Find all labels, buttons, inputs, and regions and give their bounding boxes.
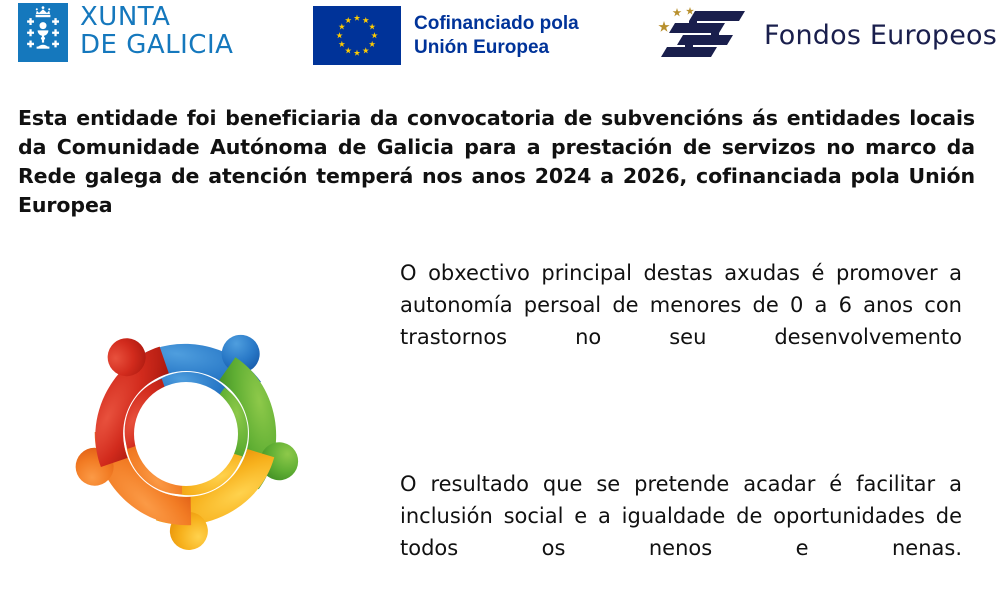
european-union-flag-icon	[313, 6, 401, 65]
fondos-europeos-logo: Fondos Europeos	[655, 4, 997, 66]
eu-cofunded-text: Cofinanciado pola Unión Europea	[414, 12, 579, 60]
galicia-coat-of-arms-icon	[18, 3, 68, 62]
xunta-wordmark-line1: XUNTA	[80, 4, 233, 31]
xunta-wordmark: XUNTA DE GALICIA	[80, 4, 233, 60]
eu-cofunded-logo: Cofinanciado pola Unión Europea	[313, 6, 579, 65]
fondos-europeos-label: Fondos Europeos	[764, 20, 997, 51]
logo-bar: XUNTA DE GALICIA Cofinanciado pola Unión…	[0, 0, 1000, 78]
content-area: O obxectivo principal destas axudas é pr…	[0, 236, 1000, 572]
paragraph-result: O resultado que se pretende acadar é fac…	[400, 469, 962, 597]
page-headline: Esta entidade foi beneficiaria da convoc…	[18, 104, 975, 220]
paragraph-objective-text: O obxectivo principal destas axudas é pr…	[400, 258, 962, 386]
paragraph-objective: O obxectivo principal destas axudas é pr…	[400, 258, 962, 386]
eu-cofunded-line1: Cofinanciado pola	[414, 12, 579, 36]
paragraph-result-text: O resultado que se pretende acadar é fac…	[400, 469, 962, 597]
xunta-wordmark-line2: DE GALICIA	[80, 32, 233, 59]
fondos-europeos-stepped-bars-icon	[655, 4, 750, 66]
xunta-de-galicia-logo: XUNTA DE GALICIA	[18, 3, 233, 62]
eu-cofunded-line2: Unión Europea	[414, 36, 579, 60]
teamwork-inclusion-circle-icon	[52, 300, 320, 568]
